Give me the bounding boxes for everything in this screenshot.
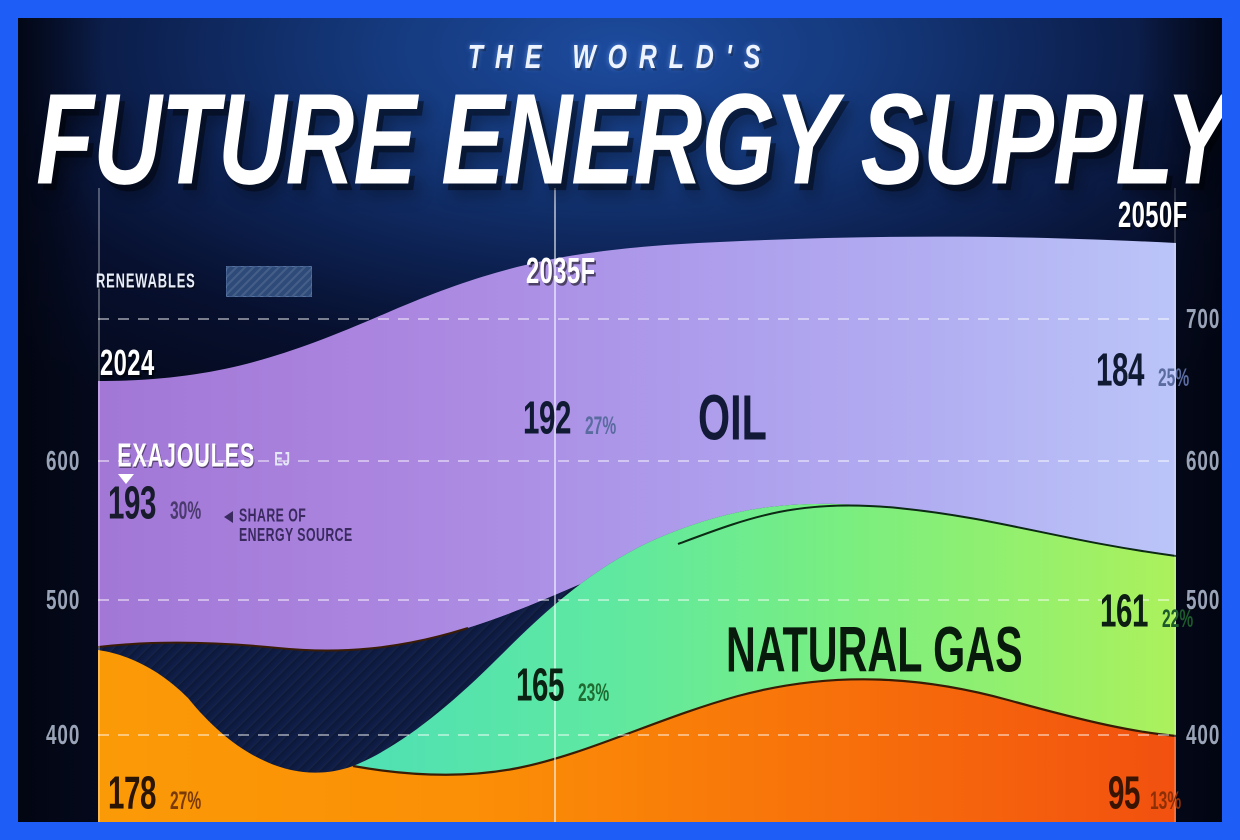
value-percent: 23% (578, 680, 609, 709)
axis-tick-left-400: 400 (46, 720, 80, 751)
annotation-arrow-down-icon (118, 474, 134, 484)
value-label-2024-coal: 178 27% (108, 778, 208, 820)
legend-label-renewables: RENEWABLES (96, 270, 196, 293)
value-label-2050-oil: 184 25% (1096, 355, 1196, 397)
axis-unit-abbrev: EJ (275, 448, 291, 470)
value-number: 178 (108, 765, 156, 820)
column-label-2035f: 2035F (526, 251, 596, 293)
axis-tick-left-500: 500 (46, 585, 80, 616)
infographic-canvas: THE WORLD'S FUTURE ENERGY SUPPLY RENEWAB… (18, 18, 1222, 822)
value-percent: 25% (1158, 365, 1189, 394)
value-percent: 27% (170, 788, 201, 817)
axis-tick-right-600: 600 (1186, 446, 1220, 477)
value-percent: 30% (170, 498, 201, 527)
outer-frame: THE WORLD'S FUTURE ENERGY SUPPLY RENEWAB… (0, 0, 1240, 840)
share-note-text: SHARE OFENERGY SOURCE (239, 506, 353, 545)
value-number: 165 (516, 657, 564, 712)
column-label-2024: 2024 (100, 343, 155, 385)
value-percent: 13% (1150, 788, 1181, 817)
value-label-2050-coal: 95 13% (1108, 778, 1188, 820)
axis-unit-label: EXAJOULES (117, 437, 255, 476)
axis-tick-right-400: 400 (1186, 720, 1220, 751)
legend: RENEWABLES (96, 266, 312, 297)
value-percent: 27% (585, 413, 616, 442)
stream-label-oil: OIL (698, 382, 767, 456)
share-of-energy-source-annotation: SHARE OFENERGY SOURCE (224, 506, 368, 536)
value-number: 184 (1096, 342, 1144, 397)
axis-tick-right-700: 700 (1186, 304, 1220, 335)
value-label-2035-oil: 192 27% (523, 403, 623, 445)
annotation-arrow-left-icon (224, 511, 233, 523)
legend-swatch-renewables (226, 266, 312, 297)
value-number: 161 (1100, 583, 1148, 638)
axis-tick-left-600: 600 (46, 446, 80, 477)
stream-label-natural-gas: NATURAL GAS (726, 614, 1023, 688)
value-label-2024-oil: 193 30% (108, 488, 208, 530)
value-label-2035-natural-gas: 165 23% (516, 670, 616, 712)
value-number: 192 (523, 390, 571, 445)
column-label-2050f: 2050F (1118, 195, 1188, 237)
value-label-2050-natural-gas: 161 22% (1100, 596, 1200, 638)
value-percent: 22% (1162, 606, 1193, 635)
page-title: FUTURE ENERGY SUPPLY (36, 74, 1204, 203)
y-axis-unit-annotation: EXAJOULES EJ (106, 442, 292, 471)
value-number: 95 (1108, 765, 1140, 820)
